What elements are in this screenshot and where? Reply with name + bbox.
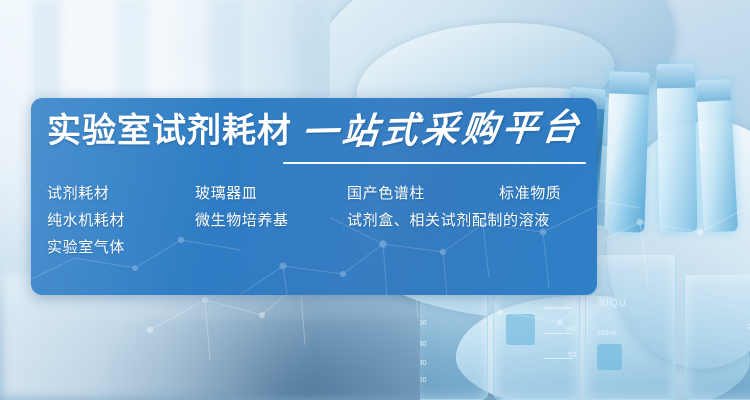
- headline-bold-text: 实验室试剂耗材: [47, 114, 292, 148]
- category-item[interactable]: 玻璃器皿: [195, 180, 347, 207]
- headline: 实验室试剂耗材 一站式采购平台: [47, 112, 582, 148]
- headline-script-text: 一站式采购平台: [296, 109, 584, 151]
- category-item[interactable]: 试剂耗材: [47, 180, 195, 207]
- headline-underline: [283, 162, 586, 164]
- category-item[interactable]: 纯水机耗材: [47, 207, 195, 234]
- promo-banner: 8.5 0.1 N ml 50 40 30 20: [0, 0, 750, 400]
- category-item[interactable]: 试剂盒、相关试剂配制的溶液: [347, 207, 550, 234]
- category-columns: 试剂耗材 玻璃器皿 国产色谱柱 标准物质 纯水机耗材 微生物培养基 试剂盒、相关…: [47, 180, 587, 261]
- category-row-3: 实验室气体: [47, 234, 587, 261]
- category-row-1: 试剂耗材 玻璃器皿 国产色谱柱 标准物质: [47, 180, 587, 207]
- category-row-2: 纯水机耗材 微生物培养基 试剂盒、相关试剂配制的溶液: [47, 207, 587, 234]
- category-item[interactable]: 标准物质: [499, 180, 561, 207]
- category-item[interactable]: 微生物培养基: [195, 207, 347, 234]
- category-item[interactable]: 国产色谱柱: [347, 180, 499, 207]
- headline-card: 实验室试剂耗材 一站式采购平台 试剂耗材 玻璃器皿 国产色谱柱 标准物质 纯水机…: [31, 98, 597, 295]
- category-item[interactable]: 实验室气体: [47, 234, 195, 261]
